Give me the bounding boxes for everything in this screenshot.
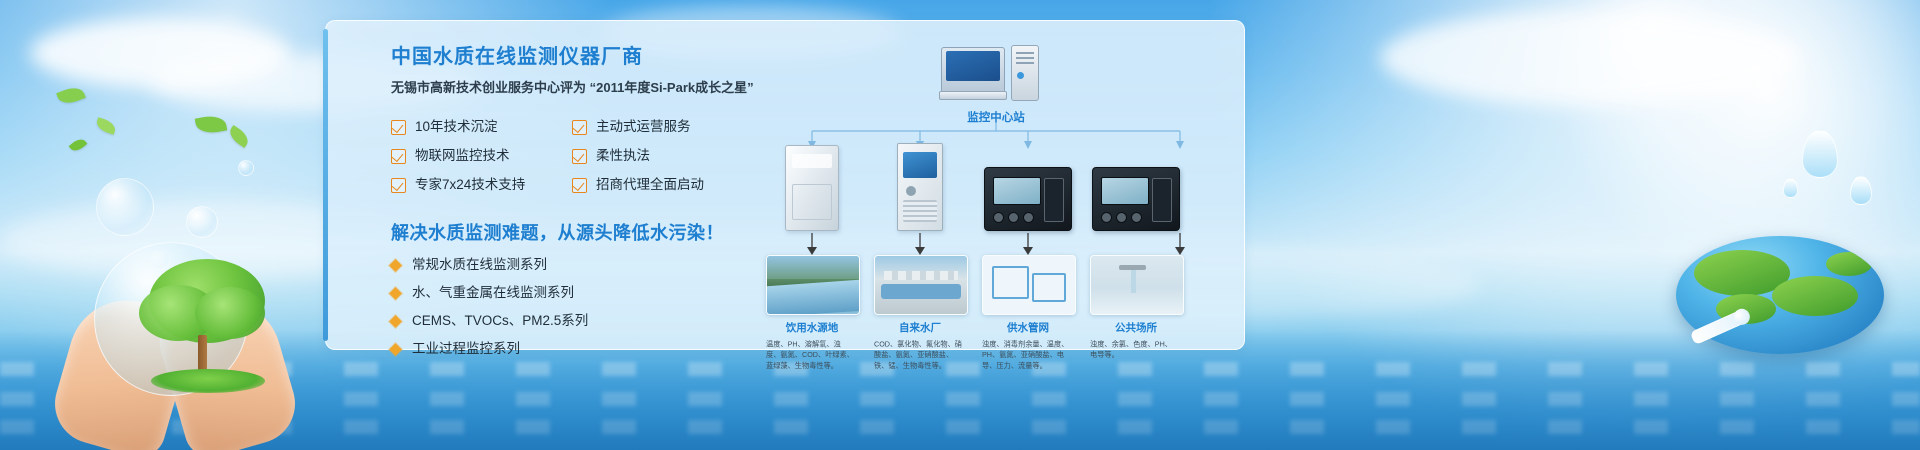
feature-item[interactable]: 招商代理全面启动	[572, 177, 753, 193]
landmass-icon	[1826, 252, 1872, 276]
content-card: 中国水质在线监测仪器厂商 无锡市高新技术创业服务中心评为 “2011年度Si-P…	[325, 20, 1245, 350]
device-cabinet-analyzer[interactable]	[766, 139, 858, 231]
product-line-label: CEMS、TVOCs、PM2.5系列	[412, 313, 588, 329]
water-plant-photo	[874, 255, 968, 315]
landmass-icon	[1772, 276, 1858, 316]
page-title: 中国水质在线监测仪器厂商	[391, 43, 751, 71]
scene-caption: 供水管网	[982, 320, 1074, 335]
water-sphere-icon	[94, 242, 248, 396]
meter-buttons	[1101, 212, 1142, 223]
control-center-label: 监控中心站	[916, 109, 1076, 125]
feature-item[interactable]: 柔性执法	[572, 148, 753, 164]
feature-label: 招商代理全面启动	[596, 177, 704, 193]
monitor-screen	[946, 51, 1000, 81]
feature-item[interactable]: 物联网监控技术	[391, 148, 572, 164]
feature-check-list: 10年技术沉淀 主动式运营服务 物联网监控技术 柔性执法 专家7x24技术支持	[391, 119, 753, 193]
grass-icon	[151, 369, 265, 393]
scene-params: 浊度、消毒剂余量、温度、PH、氨氮、亚硝酸盐、电导、压力、流量等。	[982, 339, 1070, 371]
cabinet-analyzer-icon	[785, 145, 839, 231]
check-box-icon	[572, 120, 587, 135]
scene-params: COD、氯化物、氟化物、硝酸盐、氨氮、亚硝酸盐、铁、锰、生物毒性等。	[874, 339, 962, 371]
scene-caption: 饮用水源地	[766, 320, 858, 335]
section-heading: 解决水质监测难题，从源头降低水污染！	[391, 219, 751, 245]
hands-holding-tree-illustration	[60, 236, 290, 450]
feature-label: 10年技术沉淀	[415, 119, 498, 135]
diamond-bullet-icon	[389, 259, 402, 272]
product-line-label: 水、气重金属在线监测系列	[412, 285, 574, 301]
banner-stage: 中国水质在线监测仪器厂商 无锡市高新技术创业服务中心评为 “2011年度Si-P…	[0, 0, 1920, 450]
river-reservoir-photo	[766, 255, 860, 315]
device-rack-analyzer[interactable]	[874, 139, 966, 231]
check-box-icon	[391, 178, 406, 193]
control-center-icon[interactable]	[941, 45, 1051, 101]
meter-side-panel	[1044, 178, 1064, 222]
text-column: 中国水质在线监测仪器厂商 无锡市高新技术创业服务中心评为 “2011年度Si-P…	[391, 43, 751, 369]
bubble-icon	[238, 160, 254, 176]
device-panel-meter-1[interactable]	[982, 139, 1074, 231]
server-tower-icon	[1011, 45, 1039, 101]
card-accent-stripe	[323, 29, 328, 341]
feature-label: 专家7x24技术支持	[415, 177, 525, 193]
diamond-bullet-icon	[389, 315, 402, 328]
scene-card[interactable]: 公共场所 浊度、余氯、色度、PH、电导等。	[1090, 255, 1182, 361]
device-row	[756, 139, 1236, 231]
water-drop-icon	[1783, 178, 1798, 198]
meter-lcd	[993, 177, 1041, 205]
rack-analyzer-icon	[897, 143, 943, 231]
scene-card[interactable]: 自来水厂 COD、氯化物、氟化物、硝酸盐、氨氮、亚硝酸盐、铁、锰、生物毒性等。	[874, 255, 966, 372]
rack-knob	[906, 186, 916, 196]
meter-side-panel	[1152, 178, 1172, 222]
meter-buttons	[993, 212, 1034, 223]
scene-params: 温度、PH、溶解氧、浊度、氨氮、COD、叶绿素、蓝绿藻、生物毒性等。	[766, 339, 854, 371]
product-line-item[interactable]: 水、气重金属在线监测系列	[391, 285, 751, 301]
water-drop-icon	[1850, 176, 1872, 205]
panel-meter-icon	[984, 167, 1072, 231]
product-line-label: 常规水质在线监测系列	[412, 257, 547, 273]
check-box-icon	[572, 178, 587, 193]
pipe-network-photo	[982, 255, 1076, 315]
monitoring-system-diagram: 监控中心站	[756, 31, 1236, 351]
scene-caption: 自来水厂	[874, 320, 966, 335]
product-line-list: 常规水质在线监测系列 水、气重金属在线监测系列 CEMS、TVOCs、PM2.5…	[391, 257, 751, 357]
scene-row: 饮用水源地 温度、PH、溶解氧、浊度、氨氮、COD、叶绿素、蓝绿藻、生物毒性等。…	[756, 255, 1236, 351]
scene-params: 浊度、余氯、色度、PH、电导等。	[1090, 339, 1178, 360]
bubble-icon	[186, 206, 218, 238]
meter-lcd	[1101, 177, 1149, 205]
feature-item[interactable]: 主动式运营服务	[572, 119, 753, 135]
device-panel-meter-2[interactable]	[1090, 139, 1182, 231]
green-earth-illustration	[1676, 236, 1884, 360]
check-box-icon	[391, 120, 406, 135]
keyboard-icon	[939, 91, 1007, 100]
scene-card[interactable]: 饮用水源地 温度、PH、溶解氧、浊度、氨氮、COD、叶绿素、蓝绿藻、生物毒性等。	[766, 255, 858, 372]
cloud-icon	[1380, 10, 1800, 106]
scene-card[interactable]: 供水管网 浊度、消毒剂余量、温度、PH、氨氮、亚硝酸盐、电导、压力、流量等。	[982, 255, 1074, 372]
page-subtitle: 无锡市高新技术创业服务中心评为 “2011年度Si-Park成长之星”	[391, 77, 751, 99]
tree-crown-icon	[195, 287, 265, 339]
rack-display	[903, 152, 937, 178]
feature-item[interactable]: 专家7x24技术支持	[391, 177, 572, 193]
diamond-bullet-icon	[389, 287, 402, 300]
monitor-icon	[941, 47, 1005, 93]
product-line-label: 工业过程监控系列	[412, 341, 520, 357]
diamond-bullet-icon	[389, 343, 402, 356]
faucet-hands-photo	[1090, 255, 1184, 315]
rack-grill	[903, 200, 937, 222]
check-box-icon	[391, 149, 406, 164]
feature-label: 主动式运营服务	[596, 119, 691, 135]
feature-label: 物联网监控技术	[415, 148, 510, 164]
panel-meter-icon	[1092, 167, 1180, 231]
scene-caption: 公共场所	[1090, 320, 1182, 335]
feature-item[interactable]: 10年技术沉淀	[391, 119, 572, 135]
bubble-icon	[96, 178, 154, 236]
product-line-item[interactable]: 工业过程监控系列	[391, 341, 751, 357]
feature-label: 柔性执法	[596, 148, 650, 164]
check-box-icon	[572, 149, 587, 164]
product-line-item[interactable]: 常规水质在线监测系列	[391, 257, 751, 273]
product-line-item[interactable]: CEMS、TVOCs、PM2.5系列	[391, 313, 751, 329]
